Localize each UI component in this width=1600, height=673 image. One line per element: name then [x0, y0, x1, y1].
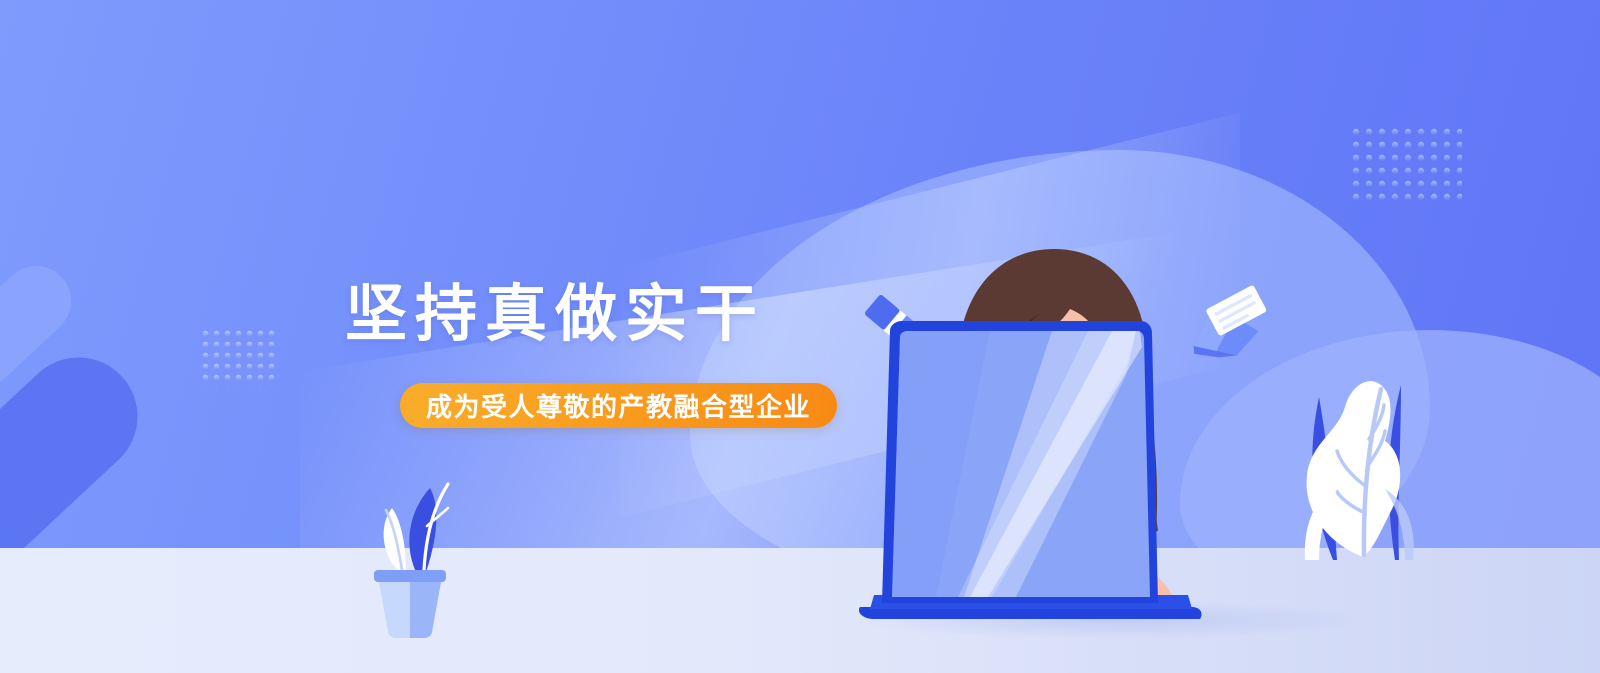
desk-shadow [850, 600, 1370, 640]
diagonal-bar-light [0, 252, 86, 549]
laptop-icon [882, 321, 1158, 603]
background-blob-right [1180, 330, 1600, 630]
dot-grid-icon [202, 330, 280, 386]
diagonal-bar-dark [0, 333, 162, 665]
pencil-icon [855, 288, 955, 373]
floor-surface [0, 548, 1600, 673]
page-title: 坚持真做实干 [345, 282, 765, 347]
woman-at-laptop-illustration [840, 235, 1240, 635]
potted-plant-icon [352, 460, 472, 640]
hero-banner: 坚持真做实干 成为受人尊敬的产教融合型企业 [0, 0, 1600, 673]
background-blob-dark-right [1430, 560, 1600, 673]
envelope-icon [1185, 280, 1275, 360]
background-blob-main [690, 150, 1430, 610]
leaf-plant-icon [1245, 335, 1440, 560]
dot-grid-icon [1352, 128, 1462, 206]
subtitle-badge: 成为受人尊敬的产教融合型企业 [400, 383, 837, 428]
